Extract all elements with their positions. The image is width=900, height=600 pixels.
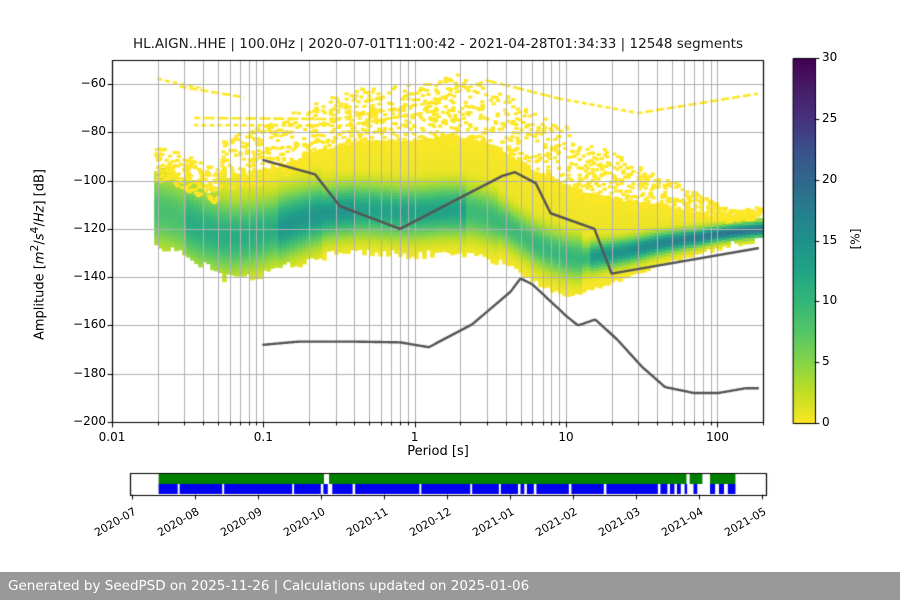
psd-figure: HL.AIGN..HHE | 100.0Hz | 2020-07-01T11:0… xyxy=(0,0,900,600)
footer-text: Generated by SeedPSD on 2025-11-26 | Cal… xyxy=(8,578,529,594)
psd-probability-density-plot xyxy=(0,0,900,600)
